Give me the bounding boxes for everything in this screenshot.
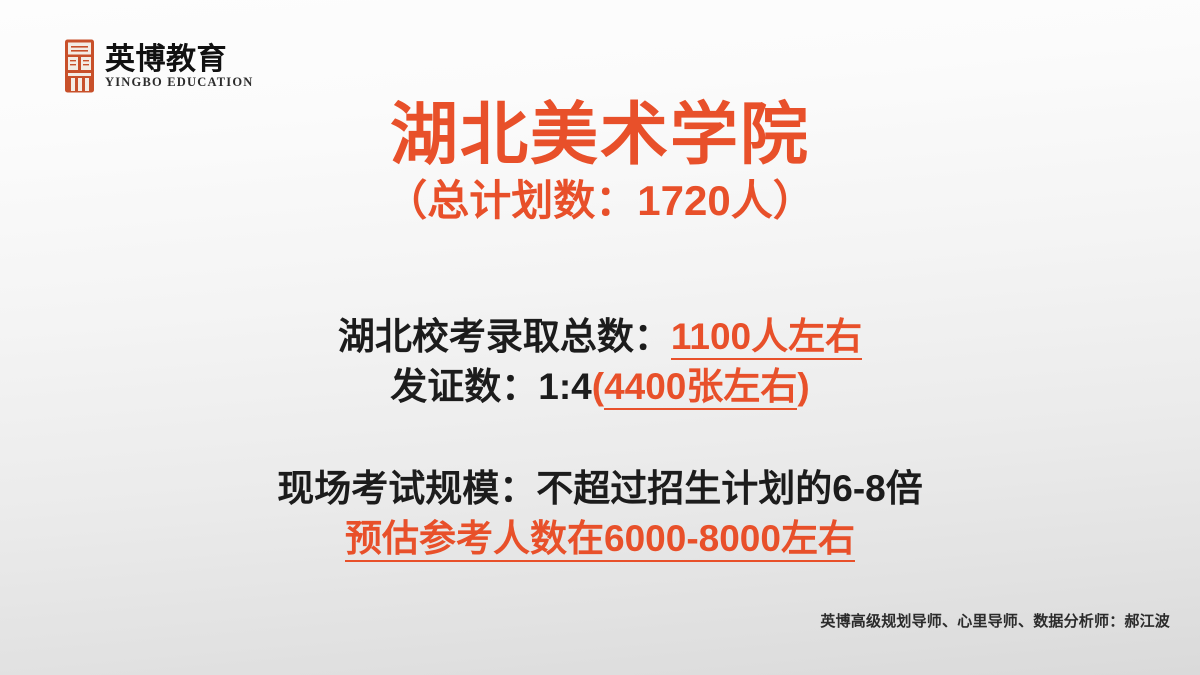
logo-english-name: YINGBO EDUCATION: [105, 76, 254, 89]
stat-line-estimated-candidates: 预估参考人数在6000-8000左右: [0, 514, 1200, 564]
seal-stamp-icon: [63, 38, 96, 94]
estimated-candidates-value: 预估参考人数在6000-8000左右: [345, 518, 855, 562]
stat-line-certificates: 发证数：1:4(4400张左右): [0, 362, 1200, 412]
logo-chinese-name: 英博教育: [105, 44, 254, 76]
slide-root: 英博教育 YINGBO EDUCATION 湖北美术学院 （总计划数：1720人…: [0, 0, 1200, 675]
certificates-value: 4400张左右: [604, 366, 797, 410]
admission-total-value: 1100人左右: [671, 316, 862, 360]
certificates-paren-open: (: [592, 366, 604, 407]
body-content: 湖北校考录取总数：1100人左右 发证数：1:4(4400张左右) 现场考试规模…: [0, 312, 1200, 564]
footer-credit: 英博高级规划导师、心里导师、数据分析师：郝江波: [820, 610, 1170, 631]
page-title: 湖北美术学院: [0, 101, 1200, 170]
body-spacer: [0, 412, 1200, 464]
stat-line-admission-total: 湖北校考录取总数：1100人左右: [0, 312, 1200, 362]
certificates-ratio: 1:4: [538, 366, 591, 407]
stat-line-exam-scale: 现场考试规模：不超过招生计划的6-8倍: [0, 464, 1200, 514]
title-block: 湖北美术学院 （总计划数：1720人）: [0, 101, 1200, 223]
certificates-label: 发证数：: [390, 366, 538, 407]
brand-logo[interactable]: 英博教育 YINGBO EDUCATION: [63, 38, 254, 94]
logo-wordmark: 英博教育 YINGBO EDUCATION: [105, 44, 254, 89]
certificates-paren-close: ): [797, 366, 809, 407]
page-subtitle: （总计划数：1720人）: [0, 179, 1200, 223]
admission-total-label: 湖北校考录取总数：: [338, 316, 671, 357]
